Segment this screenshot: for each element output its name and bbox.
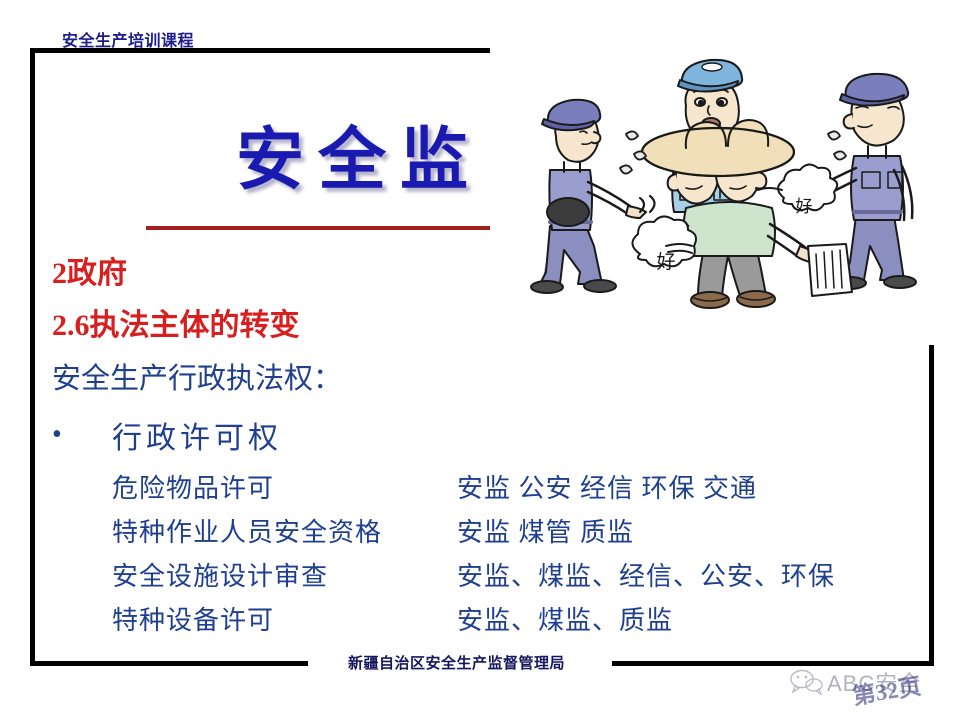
table-row: 特种作业人员安全资格 安监 煤管 质监 [112,512,932,556]
permission-item-name: 特种作业人员安全资格 [112,512,457,549]
title-underline-rule [146,226,498,230]
permission-item-name: 特种设备许可 [112,600,457,637]
table-row: 危险物品许可 安监 公安 经信 环保 交通 [112,468,932,512]
frame-border-top [30,48,498,53]
bullet-item-administrative-license: • 行政许可权 [52,413,282,457]
permission-agencies: 安监、煤监、质监 [457,600,673,637]
bullet-dot-icon: • [52,421,112,449]
permission-agencies: 安监 煤管 质监 [457,512,634,549]
speech-text-left: 好 [656,251,675,273]
frame-border-left [30,48,35,666]
cartoon-svg: 好 好 [490,40,960,345]
section-number-heading: 2政府 [52,248,127,292]
table-row: 安全设施设计审查 安监、煤监、经信、公安、环保 [112,556,932,600]
permission-item-name: 安全设施设计审查 [112,556,457,593]
wechat-bubble-icon [790,668,824,696]
footer-organization: 新疆自治区安全生产监督管理局 [348,652,565,673]
page-title: 安全监 [236,104,482,203]
cartoon-illustration: 好 好 [490,40,960,345]
permission-agencies: 安监 公安 经信 环保 交通 [457,468,757,505]
permission-table: 危险物品许可 安监 公安 经信 环保 交通 特种作业人员安全资格 安监 煤管 质… [112,468,932,644]
slide-canvas: 安全生产培训课程 安全监 2政府 2.6执法主体的转变 安全生产行政执法权： •… [0,0,960,720]
subsection-heading: 2.6执法主体的转变 [52,300,300,344]
bullet-item-label: 行政许可权 [112,413,282,457]
table-row: 特种设备许可 安监、煤监、质监 [112,600,932,644]
speech-text-right: 好 [796,197,813,216]
frame-border-bottom-left [30,661,308,666]
permission-agencies: 安监、煤监、经信、公安、环保 [457,556,835,593]
permission-item-name: 危险物品许可 [112,468,457,505]
statement-text: 安全生产行政执法权： [52,355,342,397]
